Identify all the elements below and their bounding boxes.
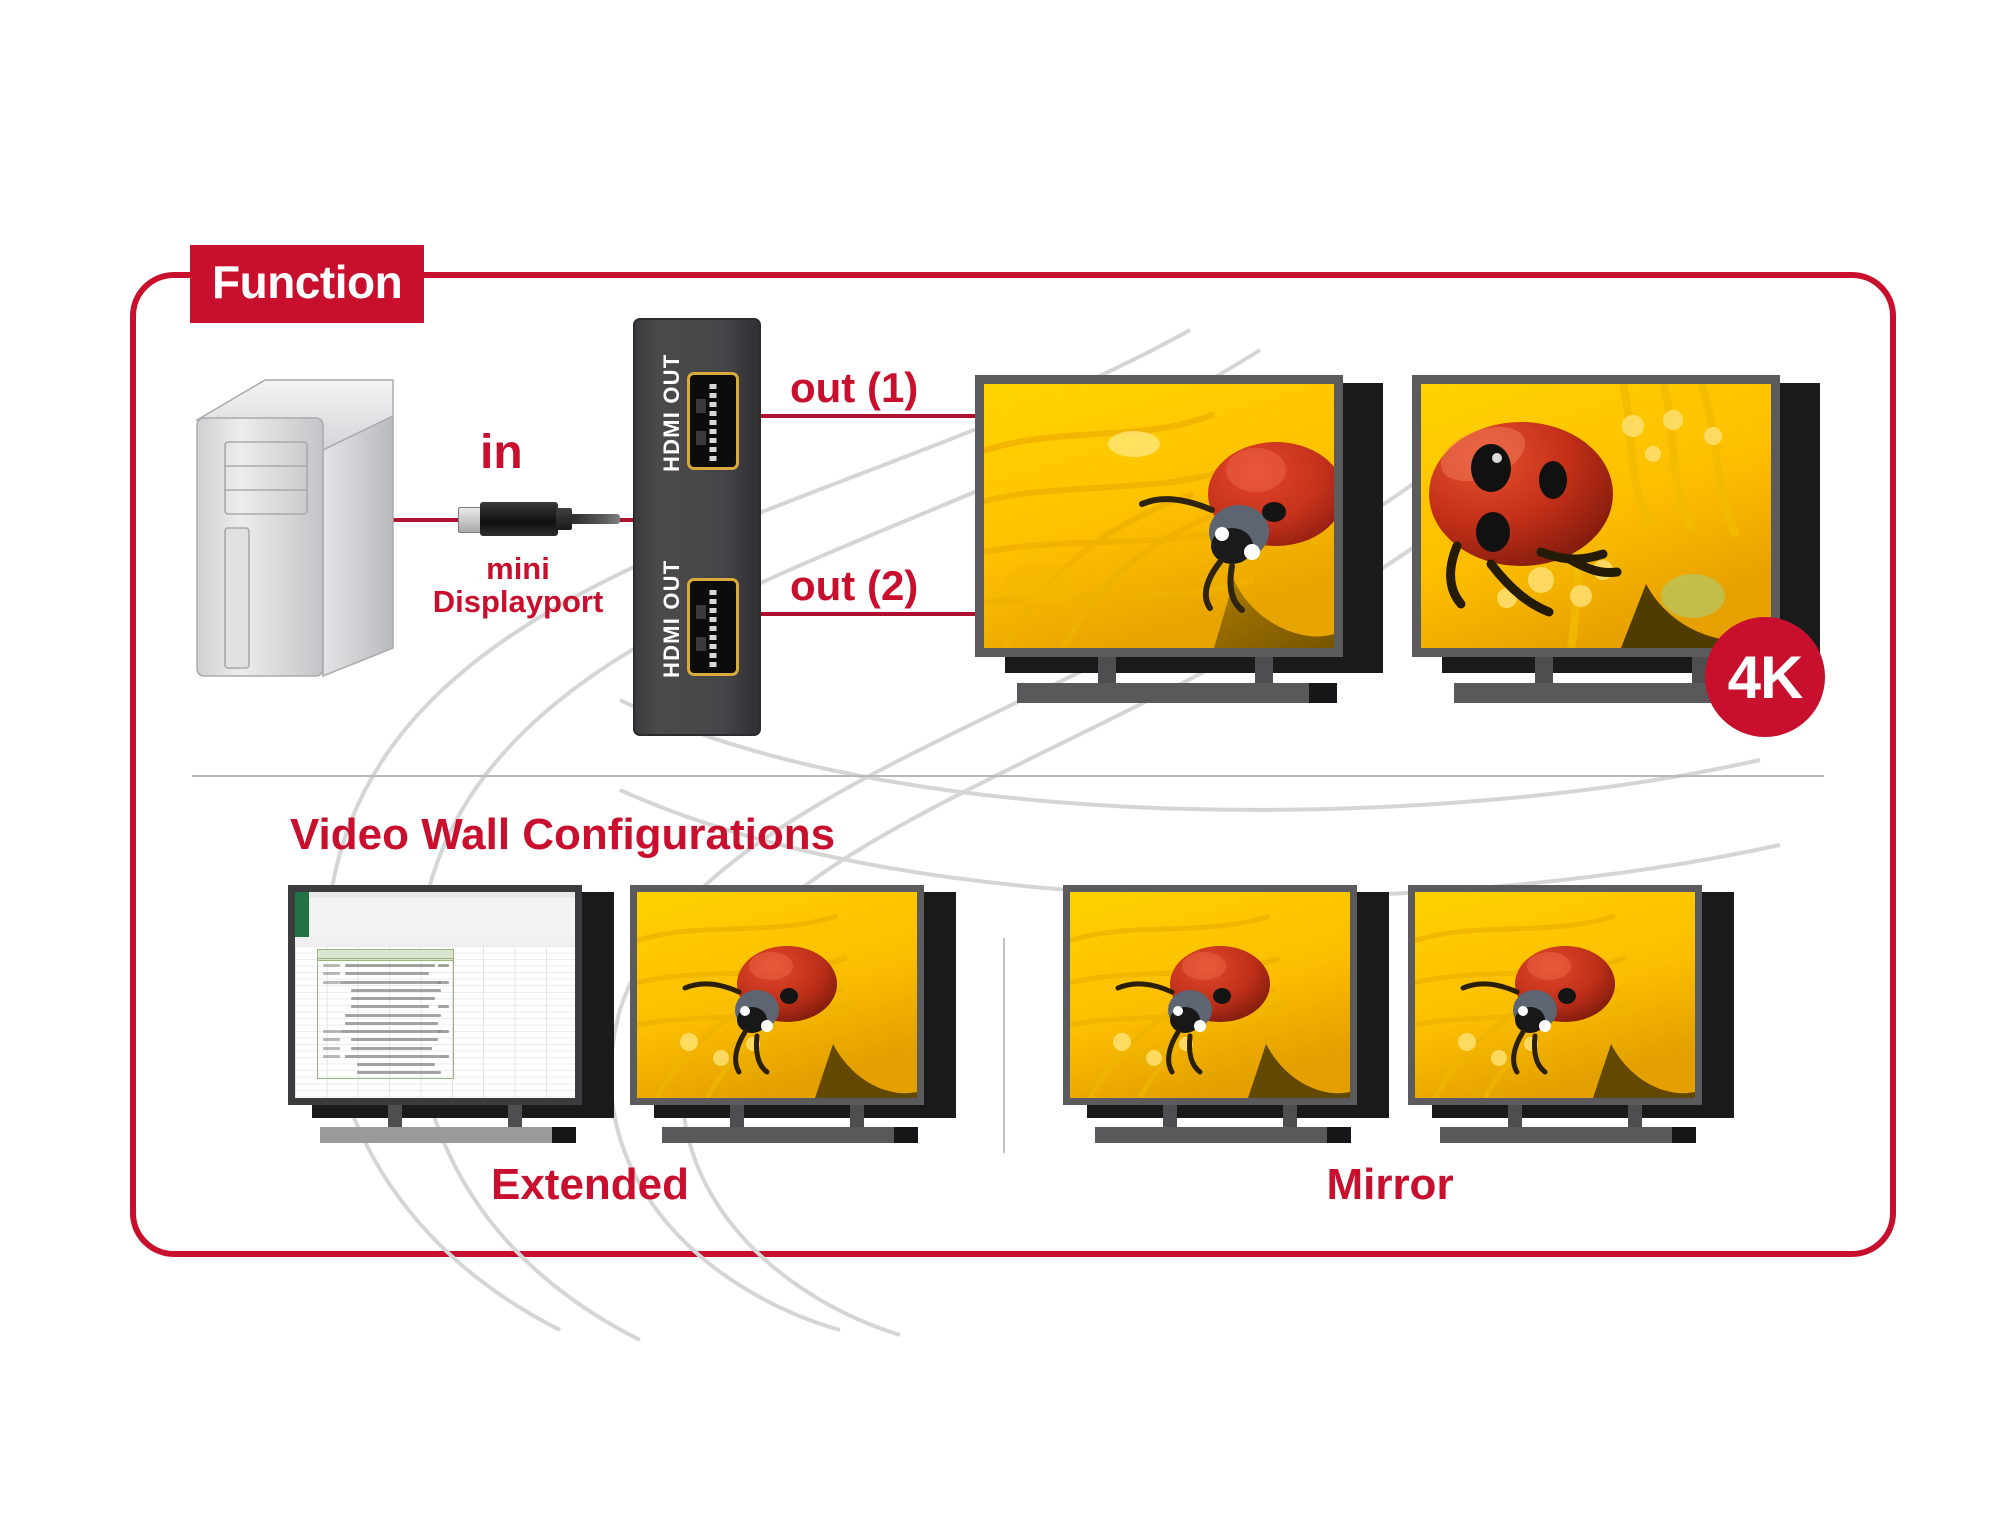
resolution-badge-4k: 4K [1705,617,1825,737]
monitor-neck [1255,657,1273,685]
monitor-screen [637,892,917,1098]
out-2-label: out (2) [790,562,918,610]
monitor-screen [295,892,575,1098]
cable-out-1 [758,414,988,418]
pc-tower-icon [195,372,395,682]
sheet-cell [345,1014,440,1017]
sheet-value [438,1055,449,1058]
video-wall-heading: Video Wall Configurations [290,810,835,860]
sheet-value [438,964,449,967]
function-section-tag: Function [190,245,424,323]
sheet-cell [323,981,340,984]
monitor-screen [1415,892,1695,1098]
sheet-value [438,1005,449,1008]
flower-ladybug-image [637,892,917,1098]
diagram-canvas: Function [0,0,2000,1514]
spreadsheet-app-tab [295,892,309,937]
mirror-display-1 [1063,885,1383,1147]
monitor-screen [1070,892,1350,1098]
sheet-cell [323,972,340,975]
section-divider-vertical [1003,938,1005,1153]
sheet-cell [323,1038,340,1041]
port-notch [696,431,706,445]
port-notch [696,605,706,619]
monitor-neck [850,1105,864,1127]
connector-cable [570,514,620,524]
sheet-cell [351,1005,429,1008]
monitor-base [662,1127,894,1143]
monitor-base [1440,1127,1672,1143]
hdmi-out-port-2-label: HDMI OUT [659,560,685,678]
port-notch [696,637,706,651]
spreadsheet-ribbon [295,892,575,938]
section-divider-horizontal [192,775,1824,777]
monitor-screen [984,384,1334,648]
monitor-neck [388,1105,402,1127]
sheet-cell [323,964,340,967]
sheet-cell [345,972,429,975]
sheet-cell [357,1063,435,1066]
mirror-mode-caption: Mirror [1170,1160,1610,1210]
sheet-cell [323,1030,340,1033]
spreadsheet-screenshot [295,892,575,1098]
monitor-neck [1508,1105,1522,1127]
monitor-neck [730,1105,744,1127]
connector-label-line2: Displayport [398,585,638,618]
monitor-neck [1535,657,1553,685]
sheet-cell [351,1038,438,1041]
display-out-1 [975,375,1375,710]
sheet-value [438,981,449,984]
port-notch [696,399,706,413]
hdmi-out-port-1[interactable] [687,372,739,470]
extended-mode-caption: Extended [370,1160,810,1210]
connector-label-line1: mini [398,552,638,585]
sheet-cell [323,1047,340,1050]
hdmi-out-port-2[interactable] [687,578,739,676]
monitor-neck [1283,1105,1297,1127]
connector-label: mini Displayport [398,552,638,619]
spreadsheet-titlebar [295,892,575,898]
hdmi-splitter-device: HDMI OUT HDMI OUT [633,318,761,736]
monitor-base [1017,683,1309,703]
sheet-cell [345,1055,437,1058]
flower-ladybug-image [1070,892,1350,1098]
sheet-cell [351,989,441,992]
sheet-cell [351,1047,432,1050]
sheet-cell [351,997,435,1000]
monitor-neck [1628,1105,1642,1127]
monitor-neck [1098,657,1116,685]
spreadsheet-selected-range [317,958,453,1079]
monitor-screen [1421,384,1771,648]
sheet-cell [323,1055,340,1058]
ladybug-closeup-image [1421,384,1771,648]
mini-displayport-connector [452,496,624,544]
cable-out-2 [758,612,988,616]
mirror-display-2 [1408,885,1728,1147]
monitor-base [320,1127,552,1143]
monitor-base [1454,683,1746,703]
connector-body [480,502,558,536]
hdmi-out-port-1-label: HDMI OUT [659,354,685,472]
monitor-base [1095,1127,1327,1143]
port-pins [710,590,717,670]
port-pins [710,384,717,464]
monitor-neck [508,1105,522,1127]
extended-display-2 [630,885,950,1147]
out-1-label: out (1) [790,364,918,412]
sheet-cell [345,964,435,967]
sheet-cell [340,1030,441,1033]
monitor-neck [1163,1105,1177,1127]
sheet-cell [357,1071,441,1074]
sheet-cell [345,1022,437,1025]
sheet-value [438,1030,449,1033]
extended-display-1 [288,885,608,1147]
sheet-cell [340,981,441,984]
flower-ladybug-image [1415,892,1695,1098]
input-label: in [480,425,523,480]
flower-ladybug-wide-image [984,384,1334,648]
